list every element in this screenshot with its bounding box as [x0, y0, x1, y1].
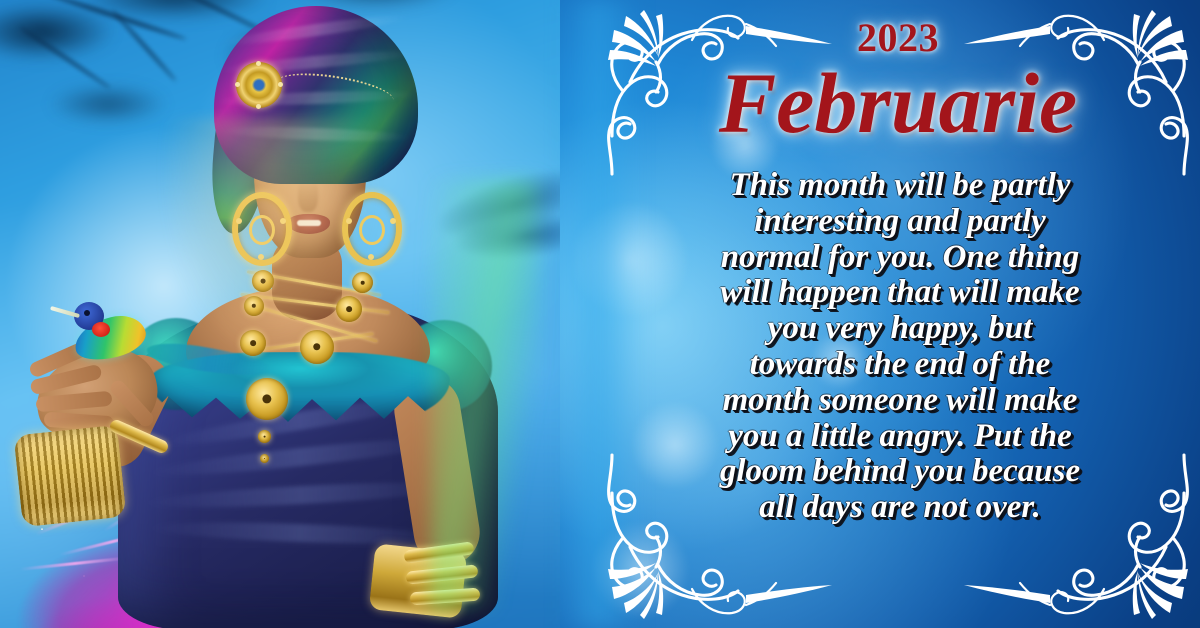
earring-inner-ring — [249, 215, 275, 245]
gold-armlet-left — [13, 425, 126, 527]
necklace-disc — [336, 296, 362, 322]
necklace-disc — [244, 296, 264, 316]
earring-bead — [258, 254, 264, 260]
necklace-disc — [240, 330, 266, 356]
jeweled-brooch — [236, 62, 282, 108]
earring-bead — [390, 218, 396, 224]
necklace-disc — [252, 270, 274, 292]
month-title: Februarie — [596, 58, 1200, 148]
brooch-bead — [256, 104, 261, 109]
necklace-drop — [260, 454, 269, 463]
necklace-pendant-disc — [246, 378, 288, 420]
hummingbird-throat — [92, 322, 110, 337]
brooch-bead — [278, 82, 283, 87]
horoscope-card: 2023 Februarie This month will be partly… — [0, 0, 1200, 628]
necklace-disc — [300, 330, 334, 364]
artwork-illustration — [0, 0, 600, 628]
gold-hoop-earring-left — [232, 192, 292, 266]
necklace-drop — [258, 430, 271, 443]
earring-bead — [280, 218, 286, 224]
woman-figure — [0, 0, 600, 628]
year-label: 2023 — [596, 18, 1200, 58]
earring-bead — [346, 218, 352, 224]
brooch-bead — [235, 82, 240, 87]
horoscope-body-text: This month will be partly interesting an… — [640, 168, 1160, 526]
gold-hoop-earring-right — [342, 192, 402, 266]
teeth — [297, 220, 321, 226]
brooch-bead — [256, 61, 261, 66]
necklace-disc — [352, 272, 373, 293]
hummingbird-eye — [84, 310, 90, 316]
earring-bead — [368, 254, 374, 260]
earring-bead — [236, 218, 242, 224]
earring-inner-ring — [359, 215, 385, 245]
